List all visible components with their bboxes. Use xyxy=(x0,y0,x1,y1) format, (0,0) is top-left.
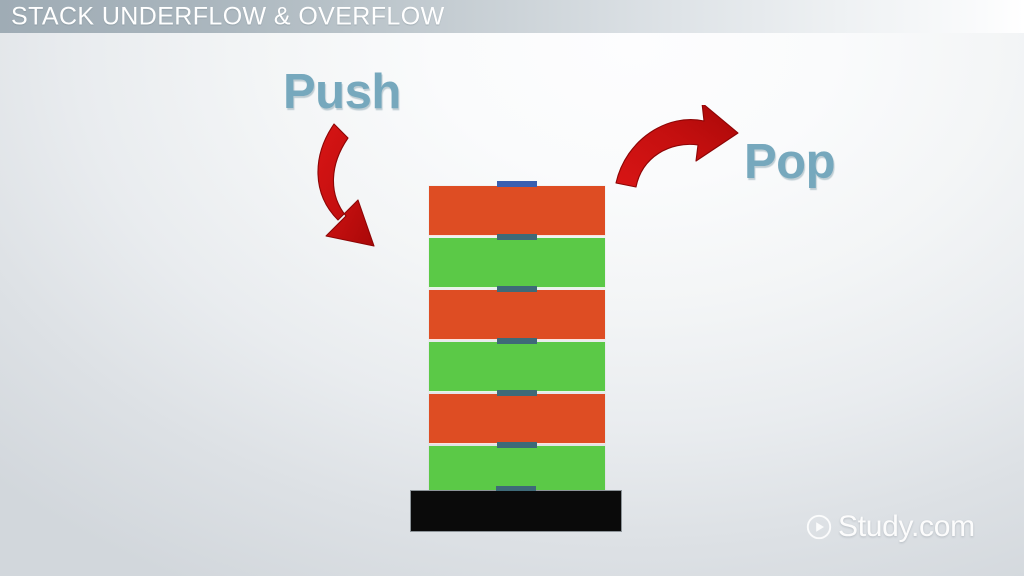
stack-block-4 xyxy=(429,394,605,444)
pop-arrow-icon xyxy=(608,105,743,195)
play-circle-icon xyxy=(806,514,832,540)
stack-base xyxy=(410,490,622,532)
block-tab xyxy=(497,234,537,240)
slide-canvas: STACK UNDERFLOW & OVERFLOW Push Pop xyxy=(0,0,1024,576)
stack-block-2 xyxy=(429,290,605,340)
block-tab xyxy=(497,338,537,344)
title-bar: STACK UNDERFLOW & OVERFLOW xyxy=(0,0,1024,33)
stack-blocks xyxy=(429,186,605,496)
block-tab xyxy=(497,390,537,396)
stack-block-0 xyxy=(429,186,605,236)
logo-text: Study.com xyxy=(838,512,975,542)
pop-label: Pop xyxy=(744,134,835,190)
base-tab xyxy=(496,486,536,491)
block-tab xyxy=(497,286,537,292)
stack-block-3 xyxy=(429,342,605,392)
page-title: STACK UNDERFLOW & OVERFLOW xyxy=(11,2,445,31)
block-tab xyxy=(497,442,537,448)
block-tab-top xyxy=(497,181,537,187)
push-arrow-icon xyxy=(296,108,416,248)
study-com-logo: Study.com xyxy=(806,512,975,542)
stack-block-1 xyxy=(429,238,605,288)
